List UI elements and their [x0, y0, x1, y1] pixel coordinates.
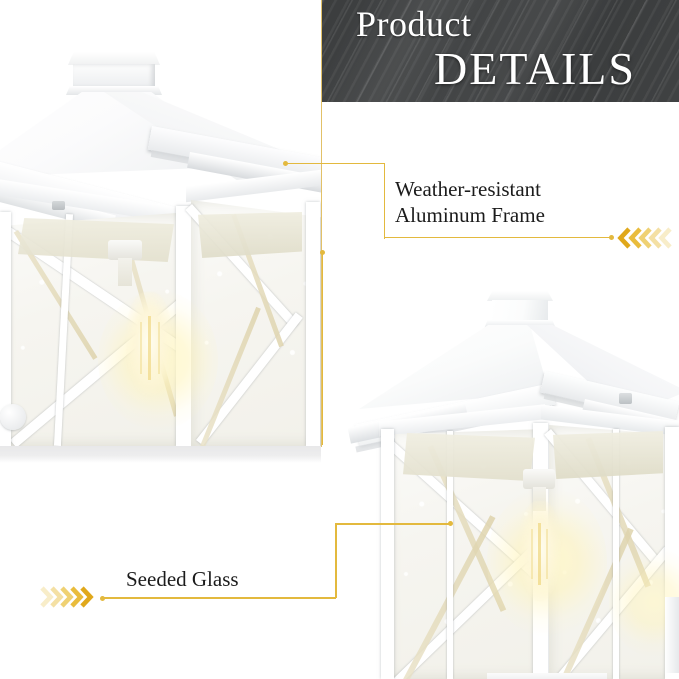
- annotation-2-leader-line: [336, 523, 450, 525]
- annotation-2-label-line1: Seeded Glass: [126, 566, 239, 592]
- annotation-1-label-line1: Weather-resistant: [395, 176, 541, 202]
- chevrons-right-icon: [38, 585, 96, 609]
- annotation-1-label-line2: Aluminum Frame: [395, 202, 545, 228]
- annotation-2-bracket-horizontal: [103, 597, 336, 599]
- annotation-2a-vertical: [322, 253, 324, 445]
- chevrons-left-icon: [616, 226, 674, 250]
- header-title-line2: DETAILS: [350, 44, 667, 94]
- product-details-header-banner: Product DETAILS: [322, 0, 679, 102]
- annotation-2-bracket-vertical: [335, 523, 337, 598]
- annotation-1-bracket-horizontal: [384, 237, 612, 239]
- annotation-2-chevron-group: [38, 585, 96, 609]
- annotation-1-end-dot: [609, 235, 614, 240]
- photo-top-shadow: [0, 446, 321, 463]
- header-title-line1: Product: [350, 4, 667, 44]
- annotation-1-chevron-group: [616, 226, 674, 250]
- annotation-2-end-dot: [100, 596, 105, 601]
- lantern-photo-top-left: [0, 0, 322, 447]
- product-details-infographic: Product DETAILS Weather-resistant Alumin…: [0, 0, 679, 679]
- annotation-1-leader-line: [286, 163, 385, 165]
- annotation-1-bracket-vertical: [384, 163, 386, 239]
- lantern-photo-bottom-right: [337, 279, 679, 679]
